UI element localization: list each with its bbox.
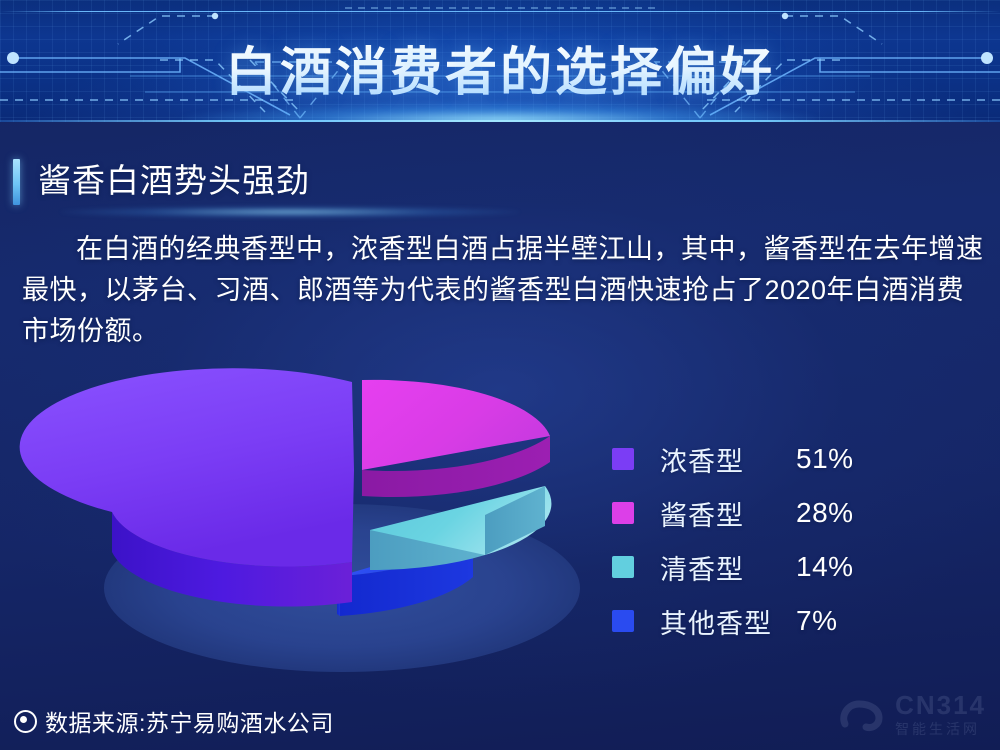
legend-value: 14% [796, 551, 854, 583]
section-heading-label: 酱香白酒势头强劲 [38, 154, 310, 202]
chart-legend: 浓香型 51% 酱香型 28% 清香型 14% 其他香型 7% [612, 432, 942, 648]
legend-item[interactable]: 浓香型 51% [612, 432, 942, 486]
legend-label: 清香型 [660, 548, 796, 587]
legend-item[interactable]: 酱香型 28% [612, 486, 942, 540]
circle-marker-icon [14, 710, 37, 733]
data-source-label: 数据来源:苏宁易购酒水公司 [45, 704, 334, 738]
legend-value: 7% [796, 605, 837, 637]
slide-canvas: 白酒消费者的选择偏好 酱香白酒势头强劲 在白酒的经典香型中，浓香型白酒占据半壁江… [0, 0, 1000, 750]
section-accent-bar [13, 159, 20, 205]
legend-label: 酱香型 [660, 494, 796, 533]
pie-slice-strong [20, 368, 354, 606]
legend-value: 51% [796, 443, 854, 475]
legend-label: 其他香型 [660, 602, 796, 641]
section-heading: 酱香白酒势头强劲 [0, 152, 1000, 214]
legend-swatch-icon [612, 610, 634, 632]
body-paragraph: 在白酒的经典香型中，浓香型白酒占据半壁江山，其中，酱香型在去年增速最快，以茅台、… [22, 229, 988, 352]
watermark-brand: CN314 [895, 692, 986, 718]
cn314-logo-icon [839, 694, 887, 734]
legend-swatch-icon [612, 448, 634, 470]
legend-item[interactable]: 清香型 14% [612, 540, 942, 594]
header-banner: 白酒消费者的选择偏好 [0, 0, 1000, 122]
pie-chart [90, 370, 610, 690]
page-title: 白酒消费者的选择偏好 [0, 30, 1000, 105]
header-top-rule [0, 11, 1000, 12]
legend-label: 浓香型 [660, 440, 796, 479]
legend-value: 28% [796, 497, 854, 529]
legend-swatch-icon [612, 556, 634, 578]
pie-chart-svg [90, 370, 610, 690]
data-source-note: 数据来源:苏宁易购酒水公司 [14, 704, 334, 738]
watermark: CN314 智能生活网 [839, 692, 986, 736]
legend-swatch-icon [612, 502, 634, 524]
section-heading-glow [60, 206, 520, 218]
watermark-text: CN314 智能生活网 [895, 692, 986, 736]
legend-item[interactable]: 其他香型 7% [612, 594, 942, 648]
watermark-tagline: 智能生活网 [895, 722, 986, 736]
pie-slice-sauce [362, 380, 550, 497]
